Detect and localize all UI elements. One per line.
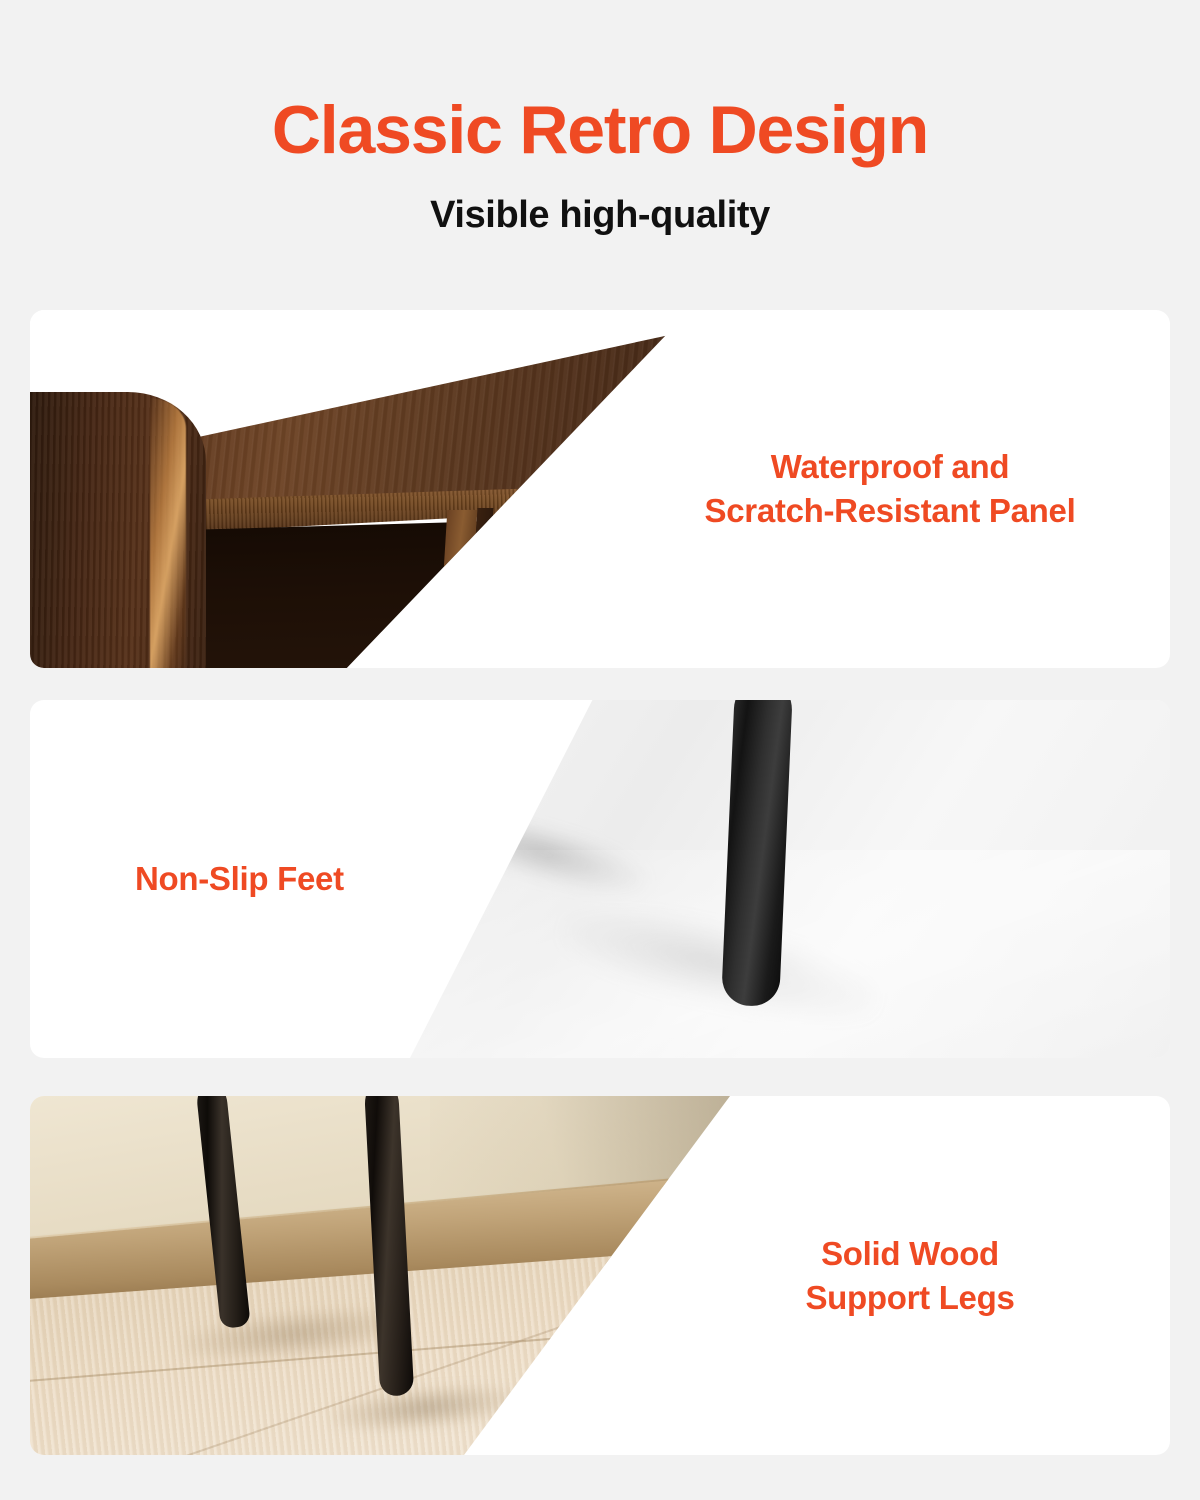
leg-shadow bbox=[555, 891, 884, 1039]
feature-text-pane: Waterproof and Scratch-Resistant Panel bbox=[610, 310, 1170, 668]
header: Classic Retro Design Visible high-qualit… bbox=[0, 0, 1200, 237]
feature-title: Waterproof and Scratch-Resistant Panel bbox=[705, 445, 1076, 532]
page-title: Classic Retro Design bbox=[0, 96, 1200, 164]
non-slip-feet-photo bbox=[410, 700, 1170, 1058]
product-feature-infographic: Classic Retro Design Visible high-qualit… bbox=[0, 0, 1200, 1500]
feature-title: Non-Slip Feet bbox=[135, 857, 344, 901]
room-scene bbox=[30, 1096, 730, 1455]
cabinet-scene bbox=[30, 310, 690, 668]
feature-text-pane: Non-Slip Feet bbox=[30, 700, 500, 1058]
cabinet-rounded-corner-highlight bbox=[150, 398, 186, 668]
legs-scene bbox=[410, 700, 1170, 1058]
screw-hole-icon bbox=[428, 661, 445, 668]
feature-card-waterproof-panel: 12 mm Waterproof and Scratch-Resistant P… bbox=[30, 310, 1170, 668]
feature-title: Solid Wood Support Legs bbox=[805, 1232, 1014, 1319]
support-legs-photo bbox=[30, 1096, 730, 1455]
page-subtitle: Visible high-quality bbox=[0, 194, 1200, 237]
feature-card-solid-wood-legs: Solid Wood Support Legs bbox=[30, 1096, 1170, 1455]
feature-text-pane: Solid Wood Support Legs bbox=[650, 1096, 1170, 1455]
feature-card-non-slip-feet: Non-Slip Feet bbox=[30, 700, 1170, 1058]
cabinet-panel-photo: 12 mm bbox=[30, 310, 690, 668]
